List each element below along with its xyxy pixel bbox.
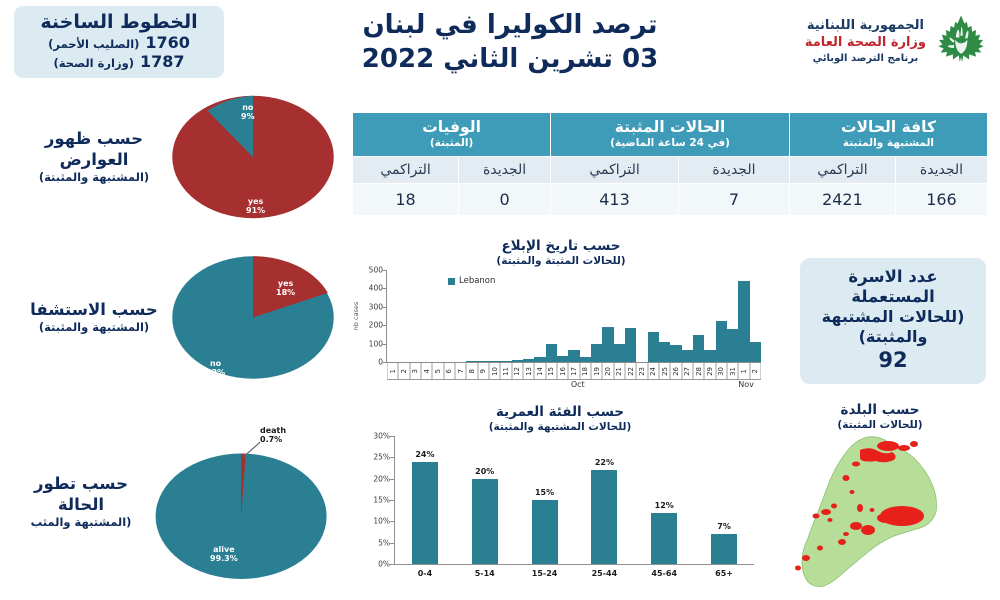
lebanon-map-icon [768,432,992,590]
beds-line-3: (للحالات المشتبهة [822,307,965,327]
epi-x-tick: 11 [500,363,511,379]
title-line-1: ترصد الكوليرا في لبنان [300,8,720,42]
epi-x-tick: 29 [704,363,715,379]
value-new-all: 166 [895,184,987,216]
value-cumulative-all: 2421 [789,184,895,216]
age-x-label: 45-64 [634,569,694,578]
epi-y-tick-label: 500 [369,266,383,275]
epi-y-tick-mark [382,270,386,271]
page-title: ترصد الكوليرا في لبنان 03 تشرين الثاني 2… [300,8,720,77]
epi-bar [716,321,727,362]
age-bar-value-label: 24% [415,450,434,459]
epi-x-tick: 9 [478,363,489,379]
age-y-tick-label: 0% [378,560,390,569]
epi-bar [568,350,579,363]
epi-bar-series [387,270,761,362]
table-header-row: كافة الحالات المشتبهة والمثبتة الحالات ا… [353,113,988,157]
age-bar-value-label: 15% [535,488,554,497]
epi-bar [523,359,534,362]
pie-graphic: yes 18% no 82% [168,251,338,384]
epi-bar [534,357,545,362]
col-cumulative-confirmed: التراكمي [551,157,679,184]
epi-x-tick: 23 [636,363,647,379]
age-bar-column: 20% [455,436,515,564]
epi-x-tick: 28 [693,363,704,379]
pie-slice-label-alive: alive 99.3% [210,545,238,563]
age-y-tick-label: 5% [378,538,390,547]
hotline-box: الخطوط الساخنة 1760 (الصليب الأحمر) 1787… [14,6,224,78]
epi-x-tick: 31 [727,363,738,379]
age-bar-value-label: 7% [717,522,731,531]
epi-x-tick: 12 [512,363,523,379]
age-bar [412,462,438,564]
epi-bar [738,281,749,362]
statistics-table: كافة الحالات المشتبهة والمثبتة الحالات ا… [352,112,988,216]
age-x-label: 0-4 [395,569,455,578]
col-cumulative-deaths: التراكمي [353,157,459,184]
age-bar-column: 7% [694,436,754,564]
pie-caption-line-2: الحالة [18,495,144,516]
epi-bar [750,342,761,362]
epi-plot-area: nb cases 0100200300400500 Lebanon 123456… [356,270,766,378]
pie-graphic: death 0.7% alive 99.3% [148,414,338,590]
age-x-label: 5-14 [455,569,515,578]
pie-caption-symptoms: حسب ظهور العوارض (المشتبهة والمثبتة) [28,129,168,184]
pie-caption-line-2: العوارض [28,150,160,171]
pie-graphic: no 9% yes 91% [168,93,338,221]
epi-x-tick: 14 [534,363,545,379]
col-cumulative-all: التراكمي [789,157,895,184]
pie-caption-line-1: حسب ظهور [28,129,160,150]
age-x-axis-labels: 0-45-1415-2425-4445-6465+ [395,569,754,578]
epi-bar [466,361,477,362]
age-y-tick-mark [390,479,394,480]
beds-used-box: عدد الاسرة المستعملة (للحالات المشتبهة و… [800,258,986,384]
age-bar-column: 24% [395,436,455,564]
age-bar-value-label: 20% [475,467,494,476]
col-new-confirmed: الجديدة [678,157,789,184]
epi-month-labels: OctNov [387,380,761,394]
epi-x-tick: 21 [614,363,625,379]
age-chart-title: حسب الفئة العمرية (للحالات المشتبهة والم… [362,404,758,434]
epi-bar [693,335,704,362]
epi-x-tick: 16 [557,363,568,379]
pie-caption-hospitalization: حسب الاستشفا (المشتبهة والمثبتة) [28,300,168,334]
age-y-tick-label: 25% [373,453,390,462]
pie-slice-label-no: no 9% [241,103,255,121]
pie-caption-sub: (المشتبهة والمثبتة) [28,171,160,185]
pie-svg-outcome [148,414,338,590]
epi-bar [648,332,659,362]
age-y-tick-label: 30% [373,432,390,441]
epi-bar [625,328,636,362]
epi-month-label: Oct [571,380,585,389]
lebanon-map-block: حسب البلدة (للحالات المثبتة) [762,402,998,600]
epi-x-tick: 5 [432,363,443,379]
hotline-entry: 1787 (وزارة الصحة) [53,53,184,71]
age-y-tick-mark [390,543,394,544]
epi-x-tick: 2 [398,363,409,379]
epi-x-tick: 15 [546,363,557,379]
value-new-deaths: 0 [459,184,551,216]
map-title: حسب البلدة (للحالات المثبتة) [762,402,998,432]
epi-bar [500,361,511,362]
epi-x-tick: 25 [659,363,670,379]
cedar-tree-icon [932,12,990,70]
epi-y-tick-label: 200 [369,321,383,330]
ministry-logo: الجمهورية اللبنانية وزارة الصحة العامة ب… [760,8,990,74]
epi-x-tick: 8 [466,363,477,379]
age-bar-column: 15% [515,436,575,564]
age-x-label: 25-44 [574,569,634,578]
epi-x-tick: 4 [421,363,432,379]
epi-x-tick: 1 [738,363,749,379]
epi-x-tick: 22 [625,363,636,379]
value-cumulative-confirmed: 413 [551,184,679,216]
epi-title-line-1: حسب تاريخ الإبلاع [356,238,766,255]
epi-x-tick: 26 [670,363,681,379]
map-title-line-2: (للحالات المثبتة) [762,419,998,432]
pie-slice-label-no: no 82% [206,359,225,377]
epi-title-line-2: (للحالات المثبتة والمثبتة) [356,255,766,268]
age-bar-series: 24%20%15%22%12%7% [395,436,754,564]
beds-line-4: والمثبتة) [859,327,928,347]
age-bar [472,479,498,564]
epi-x-tick: 18 [580,363,591,379]
epi-y-tick-label: 400 [369,284,383,293]
age-bar [651,513,677,564]
age-bar-value-label: 22% [595,458,614,467]
logo-text: الجمهورية اللبنانية وزارة الصحة العامة ب… [805,17,926,66]
epi-bar [670,345,681,362]
epi-bar [557,356,568,362]
epi-bar [591,344,602,362]
table-value-row: 166 2421 7 413 0 18 [353,184,988,216]
map-title-line-1: حسب البلدة [762,402,998,419]
epi-y-tick-label: 100 [369,339,383,348]
epi-x-tick: 6 [444,363,455,379]
logo-line-3: برنامج الترصد الوبائي [805,52,926,66]
age-bar [711,534,737,564]
age-y-tick-label: 20% [373,474,390,483]
epi-y-axis: 0100200300400500 [356,270,386,362]
beds-value: 92 [878,347,907,374]
epi-x-axis: 1234567891011121314151617181920212223242… [387,363,761,380]
epi-bar [478,361,489,362]
epi-x-tick: 20 [602,363,613,379]
age-bar-column: 12% [634,436,694,564]
table-group-confirmed: الحالات المثبتة (في 24 ساعة الماضية) [551,113,790,157]
age-y-tick-label: 10% [373,517,390,526]
beds-line-2: المستعملة [851,287,935,307]
table-group-all-cases: كافة الحالات المشتبهة والمثبتة [789,113,987,157]
epi-bar [546,344,557,362]
epi-x-tick: 27 [682,363,693,379]
age-title-line-1: حسب الفئة العمرية [362,404,758,421]
epi-bar [659,342,670,362]
age-y-tick-mark [390,457,394,458]
age-bar [532,500,558,564]
pie-caption-line-1: حسب تطور [18,474,144,495]
hotline-number: 1760 [145,34,190,52]
value-new-confirmed: 7 [678,184,789,216]
epi-bar [489,361,500,362]
hotline-org: (وزارة الصحة) [53,57,134,70]
age-bar-column: 22% [574,436,634,564]
pie-chart-symptoms: no 9% yes 91% حسب ظهور العوارض (المشتبهة… [18,92,338,222]
age-y-tick-label: 15% [373,496,390,505]
age-baseline [394,564,754,565]
epi-bar [704,350,715,362]
epi-month-label: Nov [738,380,754,389]
epi-x-tick: 2 [750,363,761,379]
epi-y-tick-mark [382,325,386,326]
epi-bar [580,357,591,362]
epi-y-tick-mark [382,307,386,308]
age-y-tick-mark [390,500,394,501]
hotline-title: الخطوط الساخنة [40,12,197,33]
hotline-entry: 1760 (الصليب الأحمر) [48,34,190,52]
pie-slice-label-death: death 0.7% [260,426,286,444]
pie-caption-outcome: حسب تطور الحالة (المشتبهة والمثب [18,474,148,529]
logo-line-1: الجمهورية اللبنانية [805,17,926,35]
table-subheader-row: الجديدة التراكمي الجديدة التراكمي الجديد… [353,157,988,184]
infographic-page: الخطوط الساخنة 1760 (الصليب الأحمر) 1787… [0,0,1000,600]
table-group-deaths: الوفيات (المثبتة) [353,113,551,157]
age-title-line-2: (للحالات المشتبهة والمثبتة) [362,421,758,434]
epi-x-tick: 24 [648,363,659,379]
epi-bar [614,344,625,362]
pie-chart-outcome: death 0.7% alive 99.3% حسب تطور الحالة (… [18,412,338,592]
age-x-label: 65+ [694,569,754,578]
hotline-number: 1787 [140,53,185,71]
epi-x-tick: 30 [716,363,727,379]
epi-x-tick: 7 [455,363,466,379]
epi-bar [727,329,738,362]
age-bar-value-label: 12% [655,501,674,510]
epi-x-tick: 19 [591,363,602,379]
beds-line-1: عدد الاسرة [848,267,937,287]
epi-bar [512,360,523,362]
pie-slice-label-yes: yes 91% [246,197,265,215]
epi-x-tick: 10 [489,363,500,379]
epi-y-tick-label: 300 [369,302,383,311]
age-bar [591,470,617,564]
epi-x-tick: 17 [568,363,579,379]
age-x-label: 15-24 [515,569,575,578]
age-plot-area: 0%5%10%15%20%25%30% 24%20%15%22%12%7% 0-… [362,436,758,588]
pie-caption-sub: (المشتبهة والمثب [18,516,144,530]
epi-curve-chart: حسب تاريخ الإبلاع (للحالات المثبتة والمث… [356,238,766,393]
pie-chart-hospitalization: yes 18% no 82% حسب الاستشفا (المشتبهة وا… [18,250,338,385]
epi-bar [602,327,613,362]
epi-curve-title: حسب تاريخ الإبلاع (للحالات المثبتة والمث… [356,238,766,268]
epi-bar [682,350,693,363]
col-new-all: الجديدة [895,157,987,184]
pie-caption-line-1: حسب الاستشفا [28,300,160,321]
col-new-deaths: الجديدة [459,157,551,184]
age-y-tick-mark [390,521,394,522]
pie-caption-sub: (المشتبهة والمثبتة) [28,321,160,335]
epi-y-tick-mark [382,362,386,363]
epi-y-tick-mark [382,288,386,289]
epi-y-tick-mark [382,344,386,345]
title-line-2: 03 تشرين الثاني 2022 [300,42,720,76]
epi-x-tick: 13 [523,363,534,379]
age-y-tick-mark [390,436,394,437]
age-y-tick-mark [390,564,394,565]
logo-line-2: وزارة الصحة العامة [805,34,926,52]
pie-slice-label-yes: yes 18% [276,279,295,297]
epi-x-tick: 3 [410,363,421,379]
age-distribution-chart: حسب الفئة العمرية (للحالات المشتبهة والم… [362,404,758,600]
epi-x-tick: 1 [387,363,398,379]
pie-svg-hospitalization [168,251,338,384]
value-cumulative-deaths: 18 [353,184,459,216]
hotline-org: (الصليب الأحمر) [48,38,139,51]
